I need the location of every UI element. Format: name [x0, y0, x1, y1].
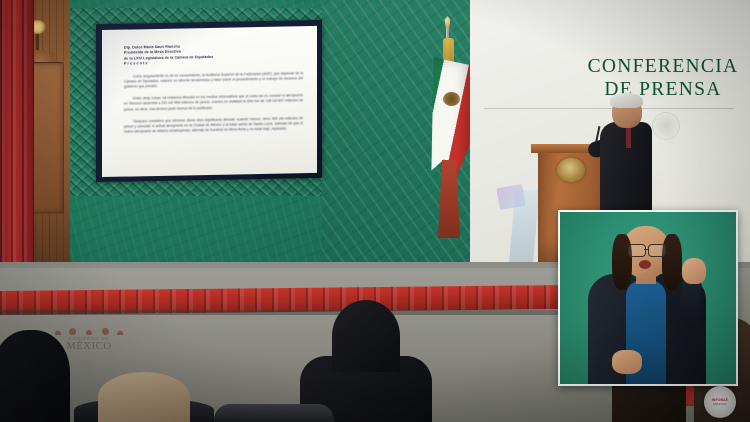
interpreter-lower-hand: [612, 350, 642, 374]
audience-member-shoulders: [214, 404, 334, 422]
eyeglasses-bridge: [644, 249, 649, 250]
sign-language-interpreter-inset: [558, 210, 738, 386]
audience-member-head: [332, 300, 400, 372]
eyeglasses-icon: [628, 244, 646, 257]
eyeglasses-icon: [648, 244, 666, 257]
heroes-figures-icon: [48, 322, 130, 335]
watermark-line-1: INFOBAE: [712, 398, 728, 402]
teleprompter-glass: [496, 184, 525, 210]
document-paragraph-3: Tampoco consideró que terminar dicha obr…: [124, 116, 303, 135]
flag-eagle-seal-icon: [443, 92, 460, 106]
floor-seal-icon: [78, 358, 98, 376]
interpreter-raised-hand: [682, 258, 706, 284]
interpreter-mouth: [639, 260, 651, 269]
audience-member-head: [98, 372, 190, 422]
projection-screen: Dip. Dulce María Sauri Riancho President…: [96, 20, 322, 182]
document-paragraph-1: Como seguramente es de su conocimiento, …: [124, 71, 303, 90]
speaker-hair: [610, 93, 643, 108]
backdrop-title: CONFERENCIA DE PRENSA: [583, 55, 743, 101]
backdrop-seal-icon: [652, 112, 680, 140]
document-paragraph-2: Entre otras cosas, tal instancia difundi…: [124, 93, 303, 112]
projected-document: Dip. Dulce María Sauri Riancho President…: [102, 26, 317, 177]
watermark-badge: INFOBAE MEXICO: [704, 386, 736, 418]
interpreter-hair-right: [662, 234, 682, 290]
speaker-tie: [626, 128, 631, 148]
watermark-line-2: MEXICO: [713, 402, 726, 406]
audience-member-head: [0, 330, 70, 422]
interpreter-hair-left: [612, 234, 632, 290]
stage-riser-edge: [0, 310, 570, 315]
press-conference-scene: Dip. Dulce María Sauri Riancho President…: [0, 0, 750, 422]
podium-national-seal-icon: [557, 158, 585, 182]
red-curtain: [0, 0, 34, 268]
